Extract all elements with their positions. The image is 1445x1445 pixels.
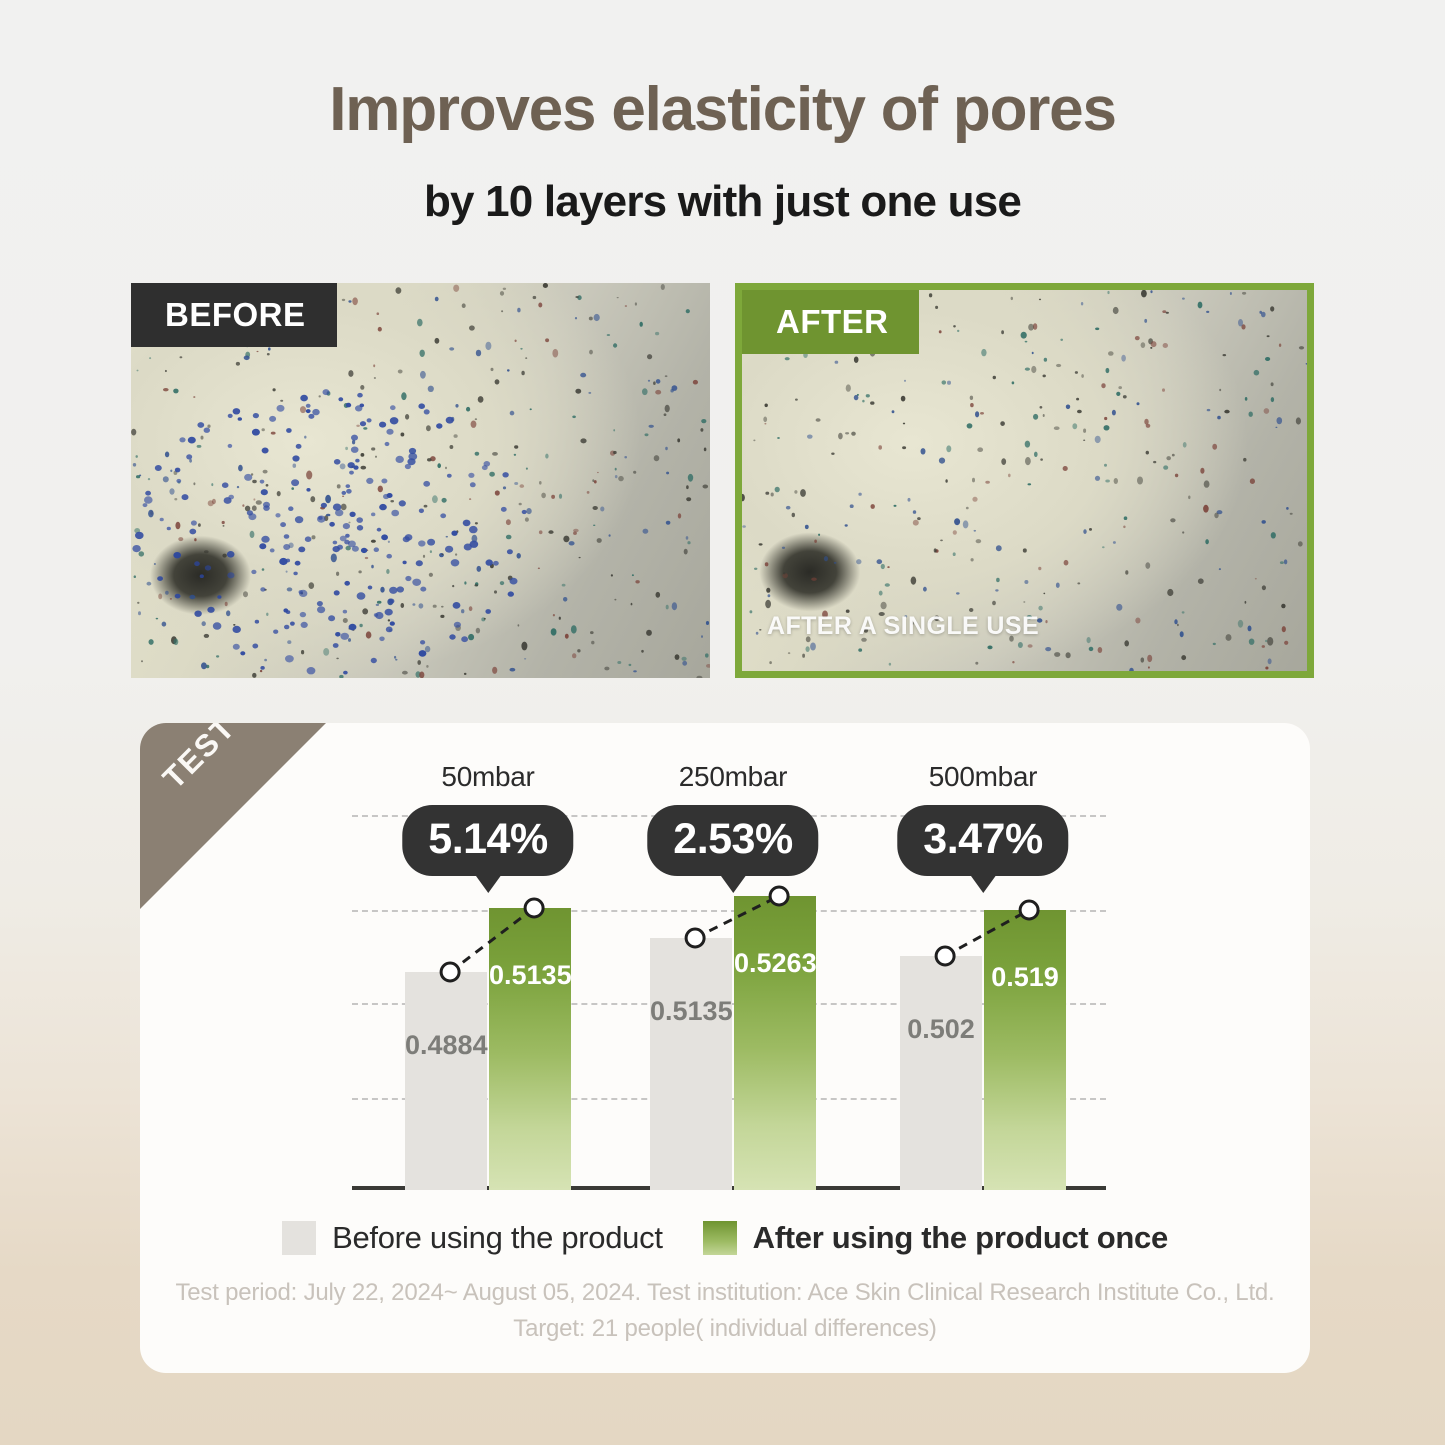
improvement-bubble-500mbar: 3.47% bbox=[897, 805, 1068, 876]
after-photo: AFTER AFTER A SINGLE USE bbox=[735, 283, 1314, 678]
improvement-bubble-250mbar: 2.53% bbox=[647, 805, 818, 876]
test-result-card: TEST elasticity(R2) 0.48840.51350.51350.… bbox=[140, 723, 1310, 1373]
improvement-bubble-50mbar: 5.14% bbox=[402, 805, 573, 876]
category-label-500mbar: 500mbar bbox=[929, 761, 1037, 793]
test-corner-badge: TEST bbox=[140, 723, 326, 909]
category-label-250mbar: 250mbar bbox=[679, 761, 787, 793]
bar-after-250mbar[interactable]: 0.5263 bbox=[734, 896, 816, 1190]
after-badge: AFTER bbox=[742, 290, 919, 354]
page-subtitle: by 10 layers with just one use bbox=[0, 178, 1445, 226]
bar-value-before: 0.502 bbox=[900, 1014, 982, 1045]
legend-label-after: After using the product once bbox=[753, 1220, 1168, 1256]
legend-swatch-before bbox=[282, 1221, 316, 1255]
bar-before-250mbar[interactable]: 0.5135 bbox=[650, 938, 732, 1190]
bar-after-50mbar[interactable]: 0.5135 bbox=[489, 908, 571, 1190]
before-after-comparison: BEFORE AFTER AFTER A SINGLE USE bbox=[131, 283, 1314, 678]
before-photo: BEFORE bbox=[131, 283, 710, 678]
footnote-line-2: Target: 21 people( individual difference… bbox=[140, 1311, 1310, 1347]
bar-before-500mbar[interactable]: 0.502 bbox=[900, 956, 982, 1190]
category-label-50mbar: 50mbar bbox=[441, 761, 534, 793]
after-caption: AFTER A SINGLE USE bbox=[767, 612, 1039, 641]
chart-legend: Before using the product After using the… bbox=[140, 1220, 1310, 1256]
before-badge: BEFORE bbox=[131, 283, 337, 347]
footnote-line-1: Test period: July 22, 2024~ August 05, 2… bbox=[140, 1275, 1310, 1311]
bar-after-500mbar[interactable]: 0.519 bbox=[984, 910, 1066, 1190]
bar-before-50mbar[interactable]: 0.4884 bbox=[405, 972, 487, 1190]
legend-item-before: Before using the product bbox=[282, 1220, 663, 1256]
bar-value-before: 0.4884 bbox=[405, 1030, 487, 1061]
legend-item-after: After using the product once bbox=[703, 1220, 1168, 1256]
bar-value-after: 0.5135 bbox=[489, 960, 571, 991]
footnote-block: Test period: July 22, 2024~ August 05, 2… bbox=[140, 1275, 1310, 1347]
legend-label-before: Before using the product bbox=[332, 1220, 663, 1256]
test-badge-label: TEST bbox=[156, 723, 243, 796]
bar-value-before: 0.5135 bbox=[650, 996, 732, 1027]
headline-block: Improves elasticity of pores by 10 layer… bbox=[0, 76, 1445, 227]
legend-swatch-after bbox=[703, 1221, 737, 1255]
page-title: Improves elasticity of pores bbox=[0, 76, 1445, 144]
bar-value-after: 0.5263 bbox=[734, 948, 816, 979]
bar-value-after: 0.519 bbox=[984, 962, 1066, 993]
